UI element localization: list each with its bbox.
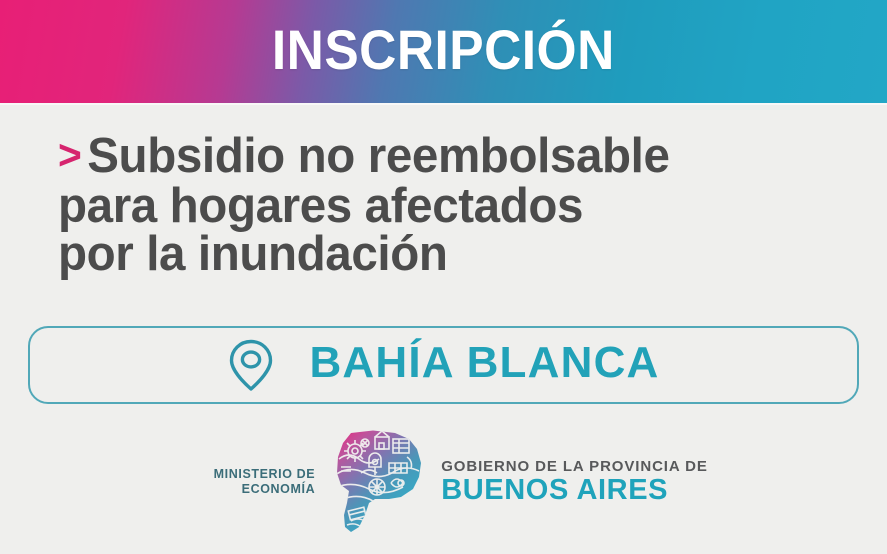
footer-logo-bar: MINISTERIO DE ECONOMÍA bbox=[0, 424, 887, 540]
headline-text-1: Subsidio no reembolsable bbox=[87, 129, 669, 183]
header-divider bbox=[0, 103, 887, 105]
ministry-label: MINISTERIO DE ECONOMÍA bbox=[179, 467, 329, 497]
headline-line-3: por la inundación bbox=[58, 230, 834, 278]
poster-canvas: INSCRIPCIÓN >Subsidio no reembolsable pa… bbox=[0, 0, 887, 554]
headline-line-2: para hogares afectados bbox=[58, 182, 834, 230]
headline-block: >Subsidio no reembolsable para hogares a… bbox=[58, 132, 858, 278]
ministry-line-1: MINISTERIO DE bbox=[214, 467, 316, 481]
header-banner: INSCRIPCIÓN bbox=[0, 0, 887, 103]
headline-line-1: >Subsidio no reembolsable bbox=[58, 132, 834, 182]
government-line-2: BUENOS AIRES bbox=[441, 476, 708, 505]
government-line-1: GOBIERNO DE LA PROVINCIA DE bbox=[441, 459, 708, 474]
government-label: GOBIERNO DE LA PROVINCIA DE BUENOS AIRES bbox=[425, 459, 708, 505]
chevron-right-icon: > bbox=[58, 131, 87, 178]
location-box[interactable]: BAHÍA BLANCA bbox=[28, 326, 859, 404]
location-name: BAHÍA BLANCA bbox=[309, 341, 659, 385]
map-pin-icon bbox=[227, 338, 275, 392]
ministry-line-2: ECONOMÍA bbox=[242, 482, 316, 496]
buenos-aires-province-map-logo bbox=[329, 429, 425, 535]
page-title: INSCRIPCIÓN bbox=[272, 22, 615, 81]
